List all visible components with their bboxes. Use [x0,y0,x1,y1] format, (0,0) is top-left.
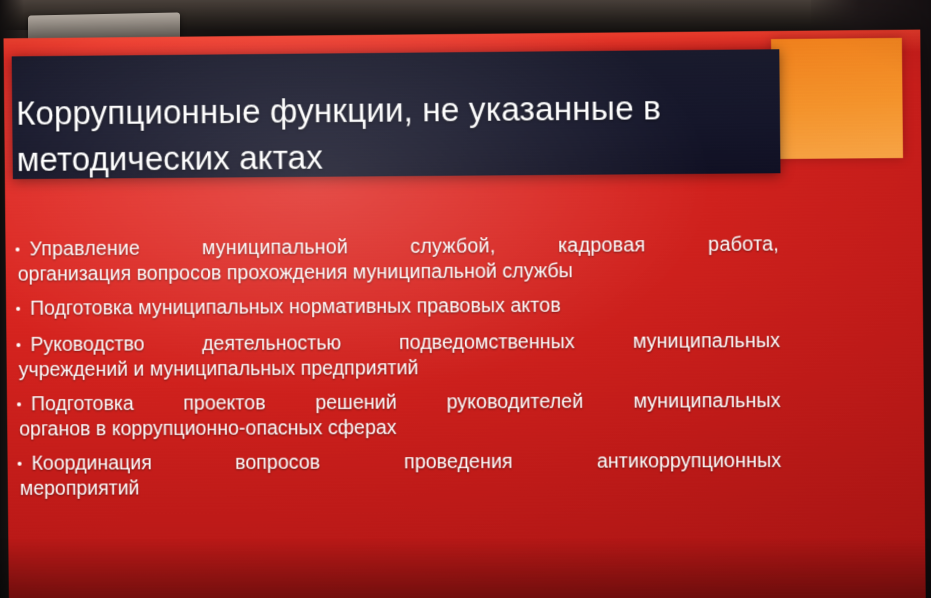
list-item-line-2: мероприятий [20,474,782,502]
bullet-dot-icon [16,247,20,251]
list-item: Координация вопросов проведения антикорр… [13,449,781,502]
projection-screen: Коррупционные функции, не указанные в ме… [4,30,926,598]
list-item-line-2: органов в коррупционно-опасных сферах [19,414,781,442]
list-item-line-2: организация вопросов прохождения муницип… [18,258,780,288]
list-item: Подготовка проектов решений руководителе… [13,389,781,443]
list-item-line-1: Подготовка муниципальных нормативных пра… [30,292,780,322]
bullet-dot-icon [18,462,22,466]
screenshot-root: Коррупционные функции, не указанные в ме… [0,0,931,598]
list-item-line-2: учреждений и муниципальных предприятий [19,354,781,383]
list-item: Подготовка муниципальных нормативных пра… [12,292,780,322]
list-item-line-1: Руководство деятельностью подведомственн… [30,329,780,358]
bullet-dot-icon [16,343,20,347]
list-item-line-1: Координация вопросов проведения антикорр… [31,449,781,477]
bullet-dot-icon [16,307,20,311]
list-item: Управление муниципальной службой, кадров… [11,232,779,288]
list-item-line-1: Подготовка проектов решений руководителе… [31,389,781,418]
presentation-slide: Коррупционные функции, не указанные в ме… [4,30,926,598]
slide-bullet-list: Управление муниципальной службой, кадров… [11,232,781,511]
list-item-line-1: Управление муниципальной службой, кадров… [29,232,779,262]
bullet-dot-icon [17,402,21,406]
list-item: Руководство деятельностью подведомственн… [12,329,780,384]
orange-accent-block [771,38,903,159]
slide-title: Коррупционные функции, не указанные в ме… [16,84,785,183]
